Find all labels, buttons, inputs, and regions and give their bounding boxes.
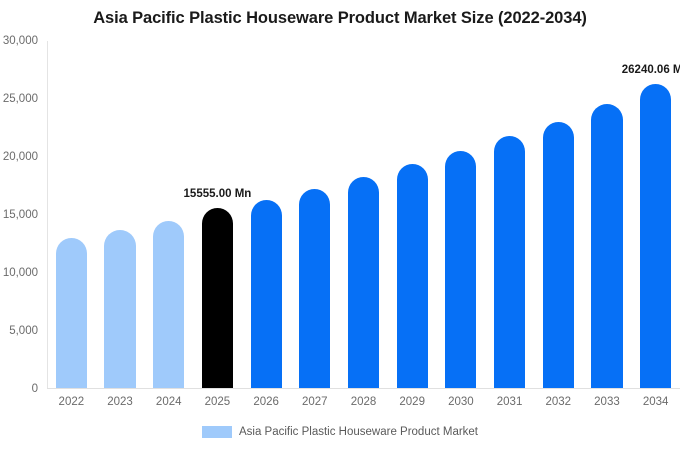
x-axis-tick-label: 2029 — [399, 396, 425, 408]
x-axis-tick-label: 2023 — [107, 396, 133, 408]
x-axis-tick-label: 2031 — [497, 396, 523, 408]
x-axis-tick-label: 2027 — [302, 396, 328, 408]
bar-group — [251, 200, 282, 389]
bar-group — [348, 177, 379, 388]
bar[interactable] — [640, 84, 671, 388]
bar-chart: Asia Pacific Plastic Houseware Product M… — [0, 0, 680, 450]
bar-group — [104, 230, 135, 388]
y-axis-tick-label: 0 — [0, 383, 38, 395]
y-axis-line — [47, 41, 48, 389]
bar[interactable] — [104, 230, 135, 388]
bar-group — [397, 164, 428, 388]
bar-group — [153, 221, 184, 388]
legend-item[interactable]: Asia Pacific Plastic Houseware Product M… — [202, 426, 478, 438]
bar[interactable] — [299, 189, 330, 388]
x-axis-tick-label: 2026 — [253, 396, 279, 408]
y-axis-tick-label: 30,000 — [0, 35, 38, 47]
x-axis-tick-label: 2034 — [643, 396, 669, 408]
chart-legend: Asia Pacific Plastic Houseware Product M… — [0, 426, 680, 438]
x-axis-tick-label: 2033 — [594, 396, 620, 408]
bar[interactable] — [251, 200, 282, 389]
bar[interactable] — [494, 136, 525, 388]
bar-group — [543, 122, 574, 388]
bar-group — [591, 104, 622, 388]
x-axis-tick-label: 2024 — [156, 396, 182, 408]
y-axis-tick-label: 25,000 — [0, 93, 38, 105]
y-axis-tick-label: 10,000 — [0, 267, 38, 279]
x-axis-line — [47, 388, 680, 389]
y-axis-tick-label: 5,000 — [0, 325, 38, 337]
x-axis-tick-label: 2030 — [448, 396, 474, 408]
x-axis-tick-label: 2028 — [351, 396, 377, 408]
x-axis-tick-label: 2032 — [545, 396, 571, 408]
x-axis-tick-label: 2025 — [205, 396, 231, 408]
bar[interactable] — [543, 122, 574, 388]
bar-value-label: 26240.06 Mn — [622, 64, 680, 76]
bar[interactable] — [202, 208, 233, 388]
bar-group — [202, 208, 233, 388]
bar-group — [445, 151, 476, 388]
x-axis-tick-label: 2022 — [59, 396, 85, 408]
bar-value-label: 15555.00 Mn — [184, 188, 252, 200]
bar[interactable] — [591, 104, 622, 388]
legend-swatch-icon — [202, 426, 232, 438]
bar[interactable] — [397, 164, 428, 388]
chart-title: Asia Pacific Plastic Houseware Product M… — [0, 9, 680, 28]
bar-group — [494, 136, 525, 388]
bar[interactable] — [56, 238, 87, 388]
bar-group — [56, 238, 87, 388]
bar-group — [299, 189, 330, 388]
bar-group — [640, 84, 671, 388]
bar[interactable] — [445, 151, 476, 388]
y-axis-tick-label: 15,000 — [0, 209, 38, 221]
plot-area — [47, 41, 680, 389]
bar[interactable] — [153, 221, 184, 388]
legend-label: Asia Pacific Plastic Houseware Product M… — [239, 426, 478, 438]
y-axis-tick-label: 20,000 — [0, 151, 38, 163]
bar[interactable] — [348, 177, 379, 388]
